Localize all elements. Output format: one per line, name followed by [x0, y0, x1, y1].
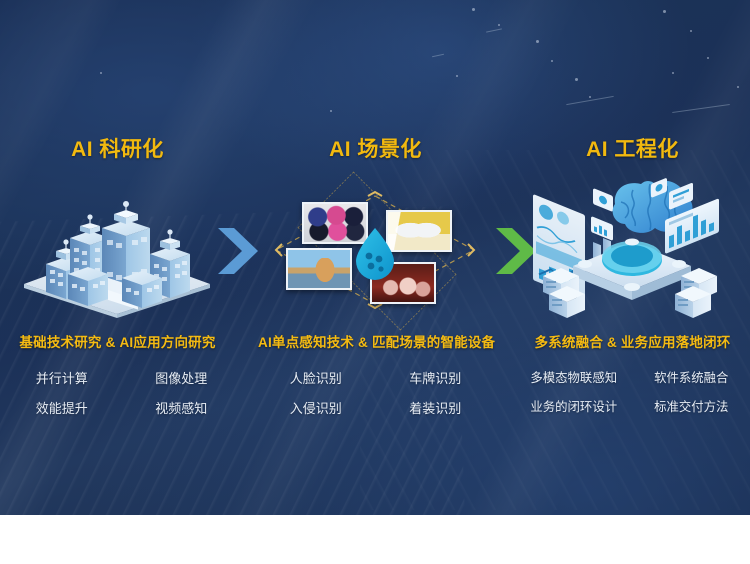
bottom-white-margin	[0, 515, 750, 564]
list-item: 图像处理	[155, 368, 207, 387]
list-item: 着装识别	[409, 398, 461, 417]
column-caption-engineering: 多系统融合 & 业务应用落地闭环	[515, 331, 750, 351]
list-item: 车牌识别	[409, 368, 461, 387]
column-heading-scenario: AI 场景化	[258, 133, 493, 163]
list-item: 效能提升	[36, 398, 88, 417]
bullet-list-scenario: 人脸识别 车牌识别 入侵识别 着装识别	[258, 368, 493, 417]
isometric-city-icon	[0, 168, 235, 318]
column-caption-scenario: AI单点感知技术 & 匹配场景的智能设备	[258, 331, 493, 351]
column-heading-research: AI 科研化	[0, 133, 235, 163]
particle-dot	[498, 24, 500, 26]
scene-photos-droplet-icon	[258, 188, 493, 313]
list-item: 视频感知	[155, 398, 207, 417]
column-caption-research: 基础技术研究 & AI应用方向研究	[0, 331, 235, 351]
list-item: 入侵识别	[290, 398, 342, 417]
bullet-list-research: 并行计算 图像处理 效能提升 视频感知	[0, 368, 243, 417]
list-item: 人脸识别	[290, 368, 342, 387]
slide-canvas: AI 科研化 基础技术研究 & AI应用方向研究 并行计算 图像处理 效能提升 …	[0, 0, 750, 564]
list-item: 业务的闭环设计	[530, 397, 617, 415]
list-item: 标准交付方法	[654, 397, 728, 415]
list-item: 软件系统融合	[654, 368, 728, 386]
column-engineering: AI 工程化 多系统融合 & 业务应用落地闭环 多模态物联感知 软件系统融合 业…	[515, 0, 750, 515]
column-scenario: AI 场景化 AI单点感知技术 & 匹配场景的智能设备 人脸识别 车牌识别 入侵…	[258, 0, 493, 515]
water-drop-sensor-icon	[352, 226, 398, 280]
dog-face	[314, 258, 336, 284]
list-item: 并行计算	[36, 368, 88, 387]
brain-platform-servers-icon	[515, 172, 750, 318]
thumbnail-dog	[286, 248, 352, 290]
column-heading-engineering: AI 工程化	[515, 133, 750, 163]
column-research: AI 科研化 基础技术研究 & AI应用方向研究 并行计算 图像处理 效能提升 …	[0, 0, 235, 515]
list-item: 多模态物联感知	[530, 368, 617, 386]
bullet-list-engineering: 多模态物联感知 软件系统融合 业务的闭环设计 标准交付方法	[515, 368, 750, 415]
